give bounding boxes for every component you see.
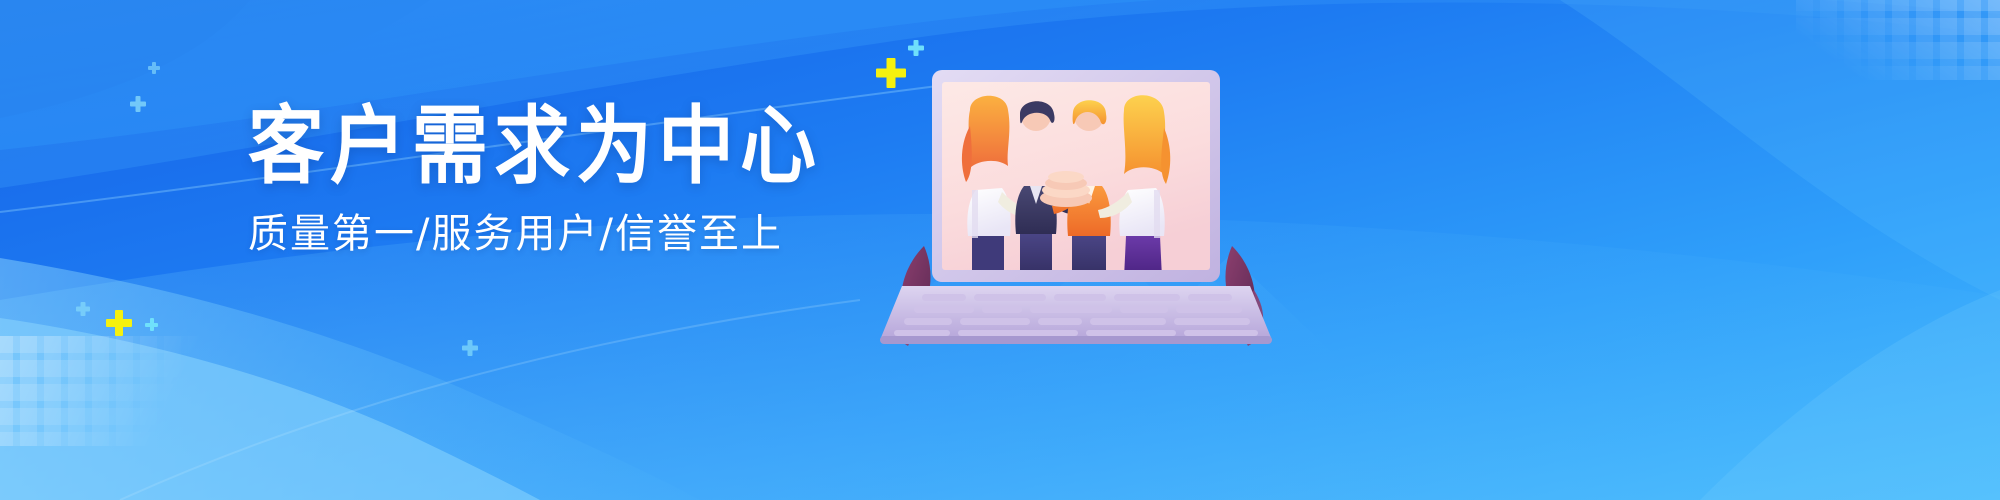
laptop-team-illustration xyxy=(880,40,1310,360)
plus-yellow-top-icon xyxy=(876,58,906,88)
copy-block: 客户需求为中心 质量第一/服务用户/信誉至上 xyxy=(248,104,868,254)
plus-yellow-bottom-icon xyxy=(106,310,132,336)
grid-top-right xyxy=(1796,0,2000,80)
plus-cyan-bottom-mid-icon xyxy=(145,318,158,331)
page-subtitle: 质量第一/服务用户/信誉至上 xyxy=(248,214,868,254)
plus-cyan-bottom-left-icon xyxy=(76,302,90,316)
page-title: 客户需求为中心 xyxy=(248,104,868,189)
plus-cyan-left-upper-icon xyxy=(130,96,146,112)
plus-cyan-top-small-icon xyxy=(908,40,924,56)
grid-bottom-left xyxy=(0,336,206,446)
plus-cyan-lower-right-icon xyxy=(462,340,478,356)
plus-cyan-left-lower-icon xyxy=(148,62,160,74)
promo-banner: 客户需求为中心 质量第一/服务用户/信誉至上 xyxy=(0,0,2000,500)
